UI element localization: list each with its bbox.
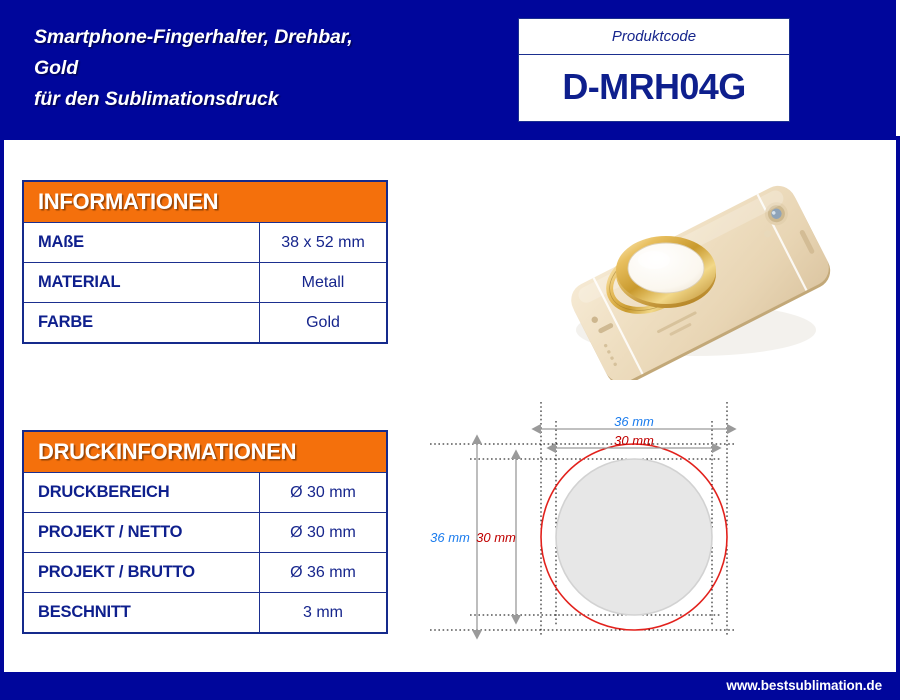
product-code-value: D-MRH04G (519, 55, 789, 121)
footer-website: www.bestsublimation.de (726, 672, 882, 700)
print-information-table: DRUCKINFORMATIONEN DRUCKBEREICH Ø 30 mm … (22, 430, 388, 634)
product-photo (500, 180, 896, 380)
row-value-farbe: Gold (260, 303, 386, 342)
row-value-masse: 38 x 52 mm (260, 223, 386, 262)
table-row: DRUCKBEREICH Ø 30 mm (24, 472, 386, 512)
information-table: INFORMATIONEN MAßE 38 x 52 mm MATERIAL M… (22, 180, 388, 344)
row-label-projekt-brutto: PROJEKT / BRUTTO (24, 553, 260, 592)
page-title-line-3: für den Sublimationsdruck (34, 84, 494, 115)
table-row: FARBE Gold (24, 302, 386, 342)
header-bottom-rule (0, 136, 900, 140)
dimension-label-left-30mm: 30 mm (476, 530, 516, 545)
row-label-projekt-netto: PROJEKT / NETTO (24, 513, 260, 552)
information-table-heading: INFORMATIONEN (38, 189, 218, 215)
page-title-line-1: Smartphone-Fingerhalter, Drehbar, (34, 22, 494, 53)
dimension-label-left-36mm: 36 mm (430, 530, 470, 545)
row-value-beschnitt: 3 mm (260, 593, 386, 632)
row-label-farbe: FARBE (24, 303, 260, 342)
product-code-box: Produktcode D-MRH04G (518, 18, 790, 122)
technical-drawing-svg: 36 mm 30 mm 36 mm 30 mm (420, 390, 896, 665)
table-row: MATERIAL Metall (24, 262, 386, 302)
page-title: Smartphone-Fingerhalter, Drehbar, Gold f… (34, 22, 494, 115)
row-value-projekt-netto: Ø 30 mm (260, 513, 386, 552)
row-label-masse: MAßE (24, 223, 260, 262)
dimension-label-top-36mm: 36 mm (614, 414, 654, 429)
dimension-label-top-30mm: 30 mm (614, 433, 654, 448)
print-information-table-header: DRUCKINFORMATIONEN (24, 432, 386, 472)
print-circle-30mm (556, 459, 712, 615)
product-photo-illustration (500, 180, 896, 380)
table-row: PROJEKT / NETTO Ø 30 mm (24, 512, 386, 552)
page-right-edge-rule (896, 140, 900, 672)
row-label-druckbereich: DRUCKBEREICH (24, 473, 260, 512)
table-row: MAßE 38 x 52 mm (24, 222, 386, 262)
footer-band: www.bestsublimation.de (0, 672, 900, 700)
product-code-label: Produktcode (519, 19, 789, 55)
print-information-table-heading: DRUCKINFORMATIONEN (38, 439, 296, 465)
row-value-material: Metall (260, 263, 386, 302)
row-label-beschnitt: BESCHNITT (24, 593, 260, 632)
page-title-line-2: Gold (34, 53, 494, 84)
information-table-header: INFORMATIONEN (24, 182, 386, 222)
row-value-druckbereich: Ø 30 mm (260, 473, 386, 512)
technical-drawing: 36 mm 30 mm 36 mm 30 mm (420, 390, 896, 665)
row-label-material: MATERIAL (24, 263, 260, 302)
table-row: BESCHNITT 3 mm (24, 592, 386, 632)
product-spec-sheet: Smartphone-Fingerhalter, Drehbar, Gold f… (0, 0, 900, 700)
table-row: PROJEKT / BRUTTO Ø 36 mm (24, 552, 386, 592)
row-value-projekt-brutto: Ø 36 mm (260, 553, 386, 592)
